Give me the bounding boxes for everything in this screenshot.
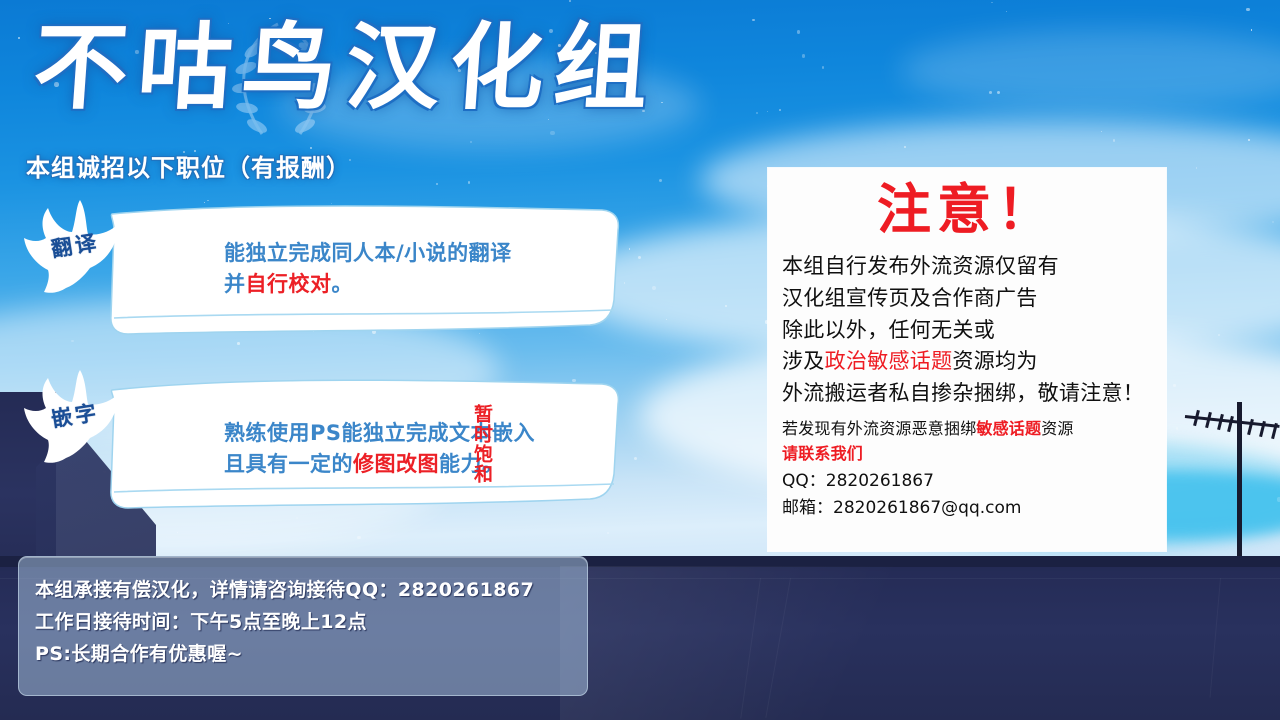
contact-details: QQ：2820261867 邮箱：2820261867@qq.com xyxy=(782,468,1166,523)
notice-body-line-4: 涉及政治敏感话题资源均为 xyxy=(782,346,1166,378)
req-prefix: 且具有一定的 xyxy=(224,452,353,476)
commission-info-box: 本组承接有偿汉化，详情请咨询接待QQ：2820261867 工作日接待时间：下午… xyxy=(18,556,588,696)
position-requirements: 熟练使用PS能独立完成文本嵌入 且具有一定的修图改图能力。 xyxy=(224,418,624,479)
notice-highlight: 政治敏感话题 xyxy=(825,349,953,373)
notice-prefix: 涉及 xyxy=(782,349,825,373)
page-title: 不咕鸟汉化组 xyxy=(30,16,757,121)
requirement-line-1: 能独立完成同人本/小说的翻译 xyxy=(224,238,624,269)
contact-us-label: 请联系我们 xyxy=(782,441,1166,466)
requirement-line-2: 且具有一定的修图改图能力。 xyxy=(224,449,624,480)
req-prefix: 并 xyxy=(224,272,246,296)
req-highlight: 自行校对 xyxy=(246,272,332,296)
notice-suffix: 资源均为 xyxy=(952,349,1037,373)
notice-small-text: 若发现有外流资源恶意捆绑敏感话题资源 请联系我们 xyxy=(782,416,1166,467)
notice-small-prefix: 若发现有外流资源恶意捆绑 xyxy=(782,419,976,438)
dove-badge-typesetting: 嵌字 xyxy=(14,362,134,482)
page-subtitle: 本组诚招以下职位（有报酬） xyxy=(26,148,351,183)
notice-body-line-3: 除此以外，任何无关或 xyxy=(782,315,1166,347)
notice-small-highlight: 敏感话题 xyxy=(976,419,1041,438)
notice-body-line-2: 汉化组宣传页及合作商广告 xyxy=(782,283,1166,315)
requirement-line-2: 并自行校对。 xyxy=(224,269,624,300)
position-requirements: 能独立完成同人本/小说的翻译 并自行校对。 xyxy=(224,238,624,299)
position-status-note: 暂时饱和 xyxy=(466,404,492,484)
notice-small-suffix: 资源 xyxy=(1041,419,1073,438)
commission-line-3: PS:长期合作有优惠喔~ xyxy=(35,639,534,671)
email-contact[interactable]: 邮箱：2820261867@qq.com xyxy=(782,495,1166,523)
dove-badge-translation: 翻译 xyxy=(14,192,134,312)
commission-info-lines: 本组承接有偿汉化，详情请咨询接待QQ：2820261867 工作日接待时间：下午… xyxy=(35,575,534,671)
commission-line-1: 本组承接有偿汉化，详情请咨询接待QQ：2820261867 xyxy=(35,575,534,607)
notice-body-line-5: 外流搬运者私自掺杂捆绑，敬请注意！ xyxy=(782,378,1166,410)
notice-body-line-1: 本组自行发布外流资源仅留有 xyxy=(782,251,1166,283)
requirement-line-1: 熟练使用PS能独立完成文本嵌入 xyxy=(224,418,624,449)
qq-contact[interactable]: QQ：2820261867 xyxy=(782,468,1166,496)
req-highlight: 修图改图 xyxy=(353,452,439,476)
poster-canvas: 不咕鸟汉化组 本组诚招以下职位（有报酬） 能独立完成同人本/小说的翻译 并自行校… xyxy=(0,0,1280,720)
commission-line-2: 工作日接待时间：下午5点至晚上12点 xyxy=(35,607,534,639)
req-suffix: 。 xyxy=(332,272,354,296)
tv-antenna-icon xyxy=(1185,398,1280,558)
notice-body: 本组自行发布外流资源仅留有 汉化组宣传页及合作商广告 除此以外，任何无关或 涉及… xyxy=(782,251,1166,411)
notice-small-line-1: 若发现有外流资源恶意捆绑敏感话题资源 xyxy=(782,416,1166,441)
notice-heading: 注意！ xyxy=(768,182,1166,239)
position-banner-translation: 能独立完成同人本/小说的翻译 并自行校对。 xyxy=(106,200,626,340)
position-banner-typesetting: 熟练使用PS能独立完成文本嵌入 且具有一定的修图改图能力。 xyxy=(106,372,626,512)
notice-panel: 注意！ 本组自行发布外流资源仅留有 汉化组宣传页及合作商广告 除此以外，任何无关… xyxy=(768,168,1166,551)
